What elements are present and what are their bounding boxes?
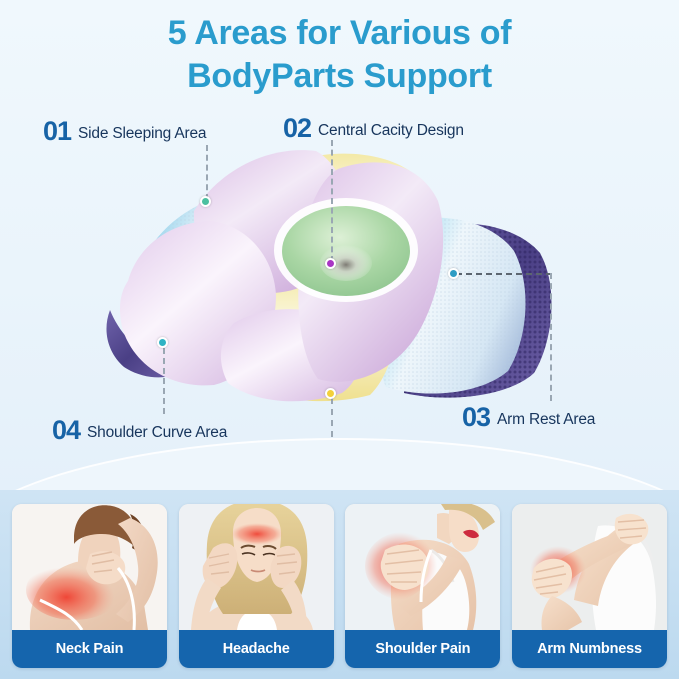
callout-03-number: 03 [462,402,490,432]
callout-03: 03Arm Rest Area [462,402,595,433]
callout-01-number: 01 [43,116,71,146]
callout-04-label: Shoulder Curve Area [87,424,227,441]
marker-dot-05 [325,388,336,399]
title-line-2: BodyParts Support [0,55,679,98]
leader-line-04 [163,348,165,414]
pain-card-headache-label: Headache [179,630,334,668]
leader-line-03-v [550,273,552,401]
leader-line-01 [206,145,208,200]
callout-05-label: Cervical Support Area [248,459,395,476]
pain-card-headache[interactable]: Headache [179,504,334,668]
pain-card-neck-label: Neck Pain [12,630,167,668]
marker-dot-01 [200,196,211,207]
central-cavity-zone [282,206,410,296]
pain-card-neck[interactable]: Neck Pain [12,504,167,668]
callout-02-label: Central Cacity Design [318,122,464,139]
callout-01: 01Side Sleeping Area [43,116,206,147]
marker-dot-03 [448,268,459,279]
callout-02-number: 02 [283,113,311,143]
callout-05-number: 05 [213,450,241,480]
product-infographic: 5 Areas for Various of BodyParts Support [0,0,679,679]
pain-card-arm-label: Arm Numbness [512,630,667,668]
pain-conditions-section: Neck Pain [0,490,679,679]
leader-line-02 [331,140,333,262]
callout-04: 04Shoulder Curve Area [52,415,227,446]
callout-01-label: Side Sleeping Area [78,125,206,142]
marker-dot-04 [157,337,168,348]
pain-card-arm[interactable]: Arm Numbness [512,504,667,668]
callout-03-label: Arm Rest Area [497,411,595,428]
title-line-1: 5 Areas for Various of [0,12,679,55]
neck-pain-photo [12,504,167,630]
marker-dot-02 [325,258,336,269]
arm-numbness-photo [512,504,667,630]
shoulder-pain-photo [345,504,500,630]
pain-card-shoulder[interactable]: Shoulder Pain [345,504,500,668]
callout-02: 02Central Cacity Design [283,113,464,144]
leader-line-05 [331,398,333,448]
pain-card-shoulder-label: Shoulder Pain [345,630,500,668]
leader-line-03-h [456,273,552,275]
headache-photo [179,504,334,630]
pain-card-list: Neck Pain [0,504,679,674]
callout-05: 05Cervical Support Area [213,450,395,481]
callout-04-number: 04 [52,415,80,445]
pillow-diagram-section: 5 Areas for Various of BodyParts Support [0,0,679,500]
page-title: 5 Areas for Various of BodyParts Support [0,12,679,97]
